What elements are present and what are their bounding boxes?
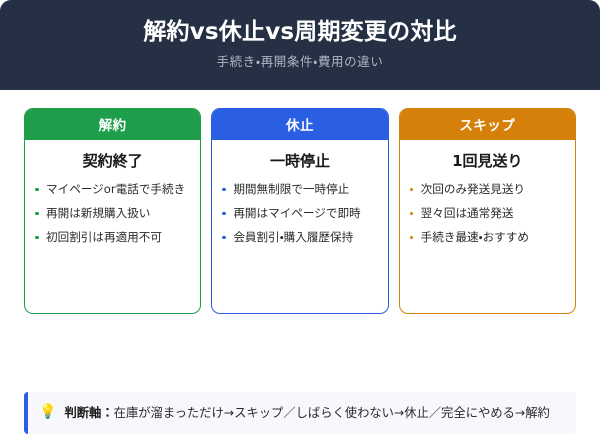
card-title-cancel: 契約終了 bbox=[34, 152, 191, 171]
card-badge-cancel: 解約 bbox=[25, 109, 200, 140]
bullet-dot-icon bbox=[222, 236, 226, 240]
list-item-label: 翌々回は通常発送 bbox=[421, 206, 514, 220]
list-item-label: 期間無制限で一時停止 bbox=[233, 182, 349, 196]
list-item-label: 会員割引・購入履歴保持 bbox=[233, 230, 353, 244]
list-item: 期間無制限で一時停止 bbox=[221, 181, 378, 199]
comparison-card-pause: 休止 一時停止 期間無制限で一時停止 再開はマイページで即時 会員割引・購入履歴… bbox=[211, 108, 388, 314]
decision-note-label: 判断軸： bbox=[64, 406, 113, 420]
list-item: 手続き最速・おすすめ bbox=[409, 229, 566, 247]
list-item: マイページor電話で手続き bbox=[34, 181, 191, 199]
list-item: 初回割引は再適用不可 bbox=[34, 229, 191, 247]
bullet-dot-icon bbox=[410, 212, 414, 216]
card-title-pause: 一時停止 bbox=[221, 152, 378, 171]
card-bullets-cancel: マイページor電話で手続き 再開は新規購入扱い 初回割引は再適用不可 bbox=[34, 181, 191, 247]
list-item-label: 手続き最速・おすすめ bbox=[421, 230, 529, 244]
list-item-label: 再開はマイページで即時 bbox=[233, 206, 360, 220]
list-item: 再開は新規購入扱い bbox=[34, 205, 191, 223]
card-bullets-pause: 期間無制限で一時停止 再開はマイページで即時 会員割引・購入履歴保持 bbox=[221, 181, 378, 247]
comparison-card-skip: スキップ 1回見送り 次回のみ発送見送り 翌々回は通常発送 手続き最速・おすすめ bbox=[399, 108, 576, 314]
bullet-dot-icon bbox=[410, 236, 414, 240]
card-body-skip: 1回見送り 次回のみ発送見送り 翌々回は通常発送 手続き最速・おすすめ bbox=[400, 140, 575, 313]
list-item-label: 初回割引は再適用不可 bbox=[46, 230, 162, 244]
card-body-pause: 一時停止 期間無制限で一時停止 再開はマイページで即時 会員割引・購入履歴保持 bbox=[212, 140, 387, 313]
page-subtitle: 手続き・再開条件・費用の違い bbox=[20, 54, 580, 70]
page-title: 解約vs休止vs周期変更の対比 bbox=[20, 18, 580, 47]
infographic-root: 解約vs休止vs周期変更の対比 手続き・再開条件・費用の違い 解約 契約終了 マ… bbox=[0, 0, 600, 434]
card-bullets-skip: 次回のみ発送見送り 翌々回は通常発送 手続き最速・おすすめ bbox=[409, 181, 566, 247]
comparison-card-cancel: 解約 契約終了 マイページor電話で手続き 再開は新規購入扱い 初回割引は再適用… bbox=[24, 108, 201, 314]
lightbulb-icon: 💡 bbox=[39, 403, 56, 423]
list-item-label: 再開は新規購入扱い bbox=[46, 206, 150, 220]
decision-note: 💡 判断軸：在庫が溜まっただけ→スキップ／しばらく使わない→休止／完全にやめる→… bbox=[24, 392, 576, 434]
decision-note-text: 判断軸：在庫が溜まっただけ→スキップ／しばらく使わない→休止／完全にやめる→解約 bbox=[64, 403, 549, 423]
bullet-dot-icon bbox=[35, 236, 39, 240]
list-item-label: 次回のみ発送見送り bbox=[421, 182, 525, 196]
card-badge-pause: 休止 bbox=[212, 109, 387, 140]
bullet-dot-icon bbox=[410, 188, 414, 192]
comparison-board: 解約 契約終了 マイページor電話で手続き 再開は新規購入扱い 初回割引は再適用… bbox=[0, 90, 600, 378]
card-body-cancel: 契約終了 マイページor電話で手続き 再開は新規購入扱い 初回割引は再適用不可 bbox=[25, 140, 200, 313]
bullet-dot-icon bbox=[35, 188, 39, 192]
list-item: 再開はマイページで即時 bbox=[221, 205, 378, 223]
hero-header: 解約vs休止vs周期変更の対比 手続き・再開条件・費用の違い bbox=[0, 0, 600, 90]
bullet-dot-icon bbox=[35, 212, 39, 216]
decision-note-body: 在庫が溜まっただけ→スキップ／しばらく使わない→休止／完全にやめる→解約 bbox=[114, 406, 550, 420]
list-item: 翌々回は通常発送 bbox=[409, 205, 566, 223]
comparison-cards: 解約 契約終了 マイページor電話で手続き 再開は新規購入扱い 初回割引は再適用… bbox=[24, 108, 576, 314]
list-item: 会員割引・購入履歴保持 bbox=[221, 229, 378, 247]
card-title-skip: 1回見送り bbox=[409, 152, 566, 171]
bullet-dot-icon bbox=[222, 188, 226, 192]
list-item: 次回のみ発送見送り bbox=[409, 181, 566, 199]
bullet-dot-icon bbox=[222, 212, 226, 216]
list-item-label: マイページor電話で手続き bbox=[46, 182, 185, 196]
card-badge-skip: スキップ bbox=[400, 109, 575, 140]
